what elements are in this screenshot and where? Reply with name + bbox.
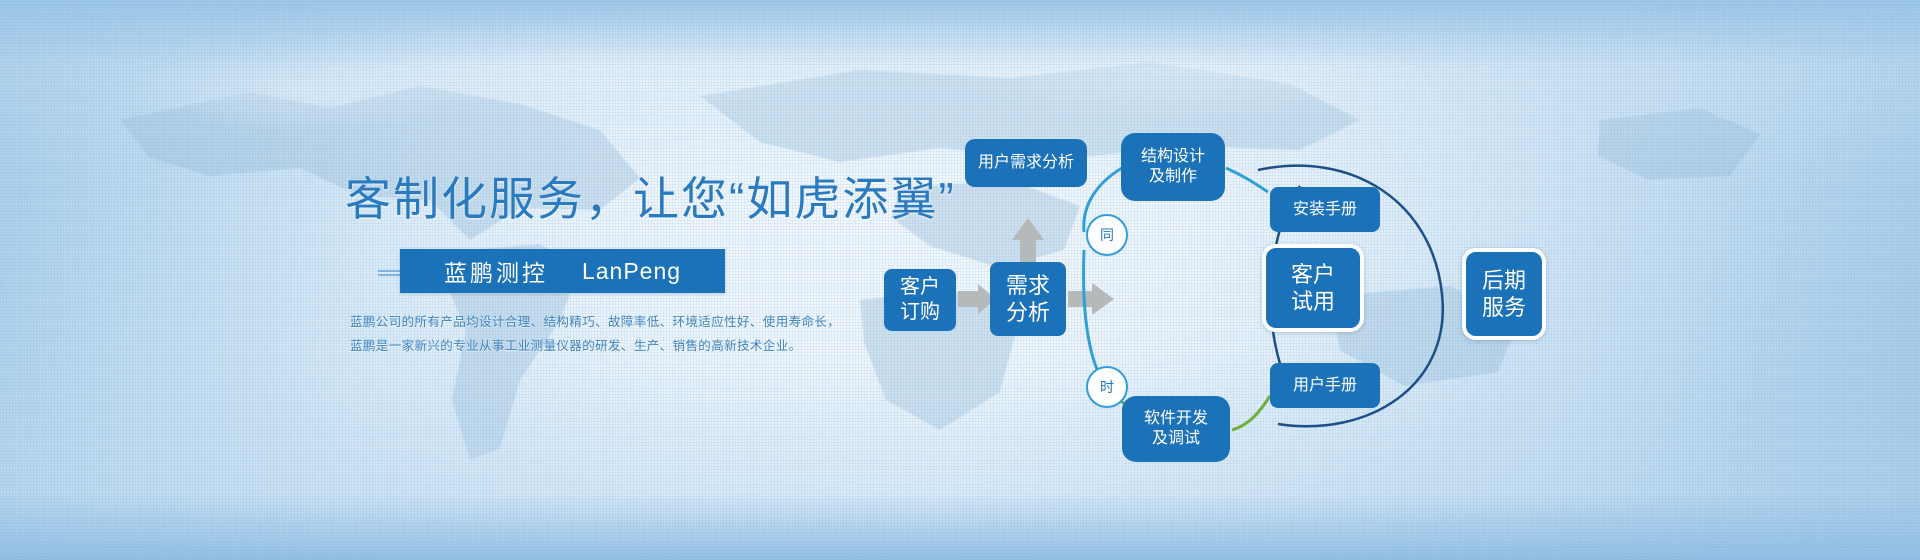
- flow-node-user-requirement-analysis[interactable]: 用户需求分析: [965, 139, 1087, 187]
- flow-node-after-sales-service[interactable]: 后期服务: [1462, 248, 1546, 340]
- flow-node-after-sales-service-label: 后期服务: [1482, 267, 1526, 322]
- flow-node-installation-manual[interactable]: 安装手册: [1270, 187, 1380, 232]
- banner-stage: 客制化服务，让您“如虎添翼” 蓝鹏测控 LanPeng 蓝鹏公司的所有产品均设计…: [0, 0, 1920, 560]
- flow-node-customer-order[interactable]: 客户订购: [884, 269, 956, 331]
- flow-node-structural-design[interactable]: 结构设计及制作: [1121, 133, 1225, 201]
- flow-node-customer-order-label: 客户订购: [900, 275, 940, 325]
- flow-badge-tong: 同: [1088, 216, 1126, 254]
- flow-node-structural-design-label: 结构设计及制作: [1141, 147, 1205, 187]
- flow-node-customer-trial[interactable]: 客户试用: [1262, 244, 1364, 332]
- flow-node-user-manual[interactable]: 用户手册: [1270, 363, 1380, 408]
- flow-node-software-development[interactable]: 软件开发及调试: [1122, 396, 1230, 462]
- flow-connectors: [0, 0, 1920, 560]
- flow-badge-shi: 时: [1088, 368, 1126, 406]
- flow-node-demand-analysis-label: 需求分析: [1006, 272, 1050, 327]
- flow-node-software-development-label: 软件开发及调试: [1144, 409, 1208, 449]
- flow-node-demand-analysis[interactable]: 需求分析: [990, 262, 1066, 336]
- flow-node-customer-trial-label: 客户试用: [1291, 261, 1335, 316]
